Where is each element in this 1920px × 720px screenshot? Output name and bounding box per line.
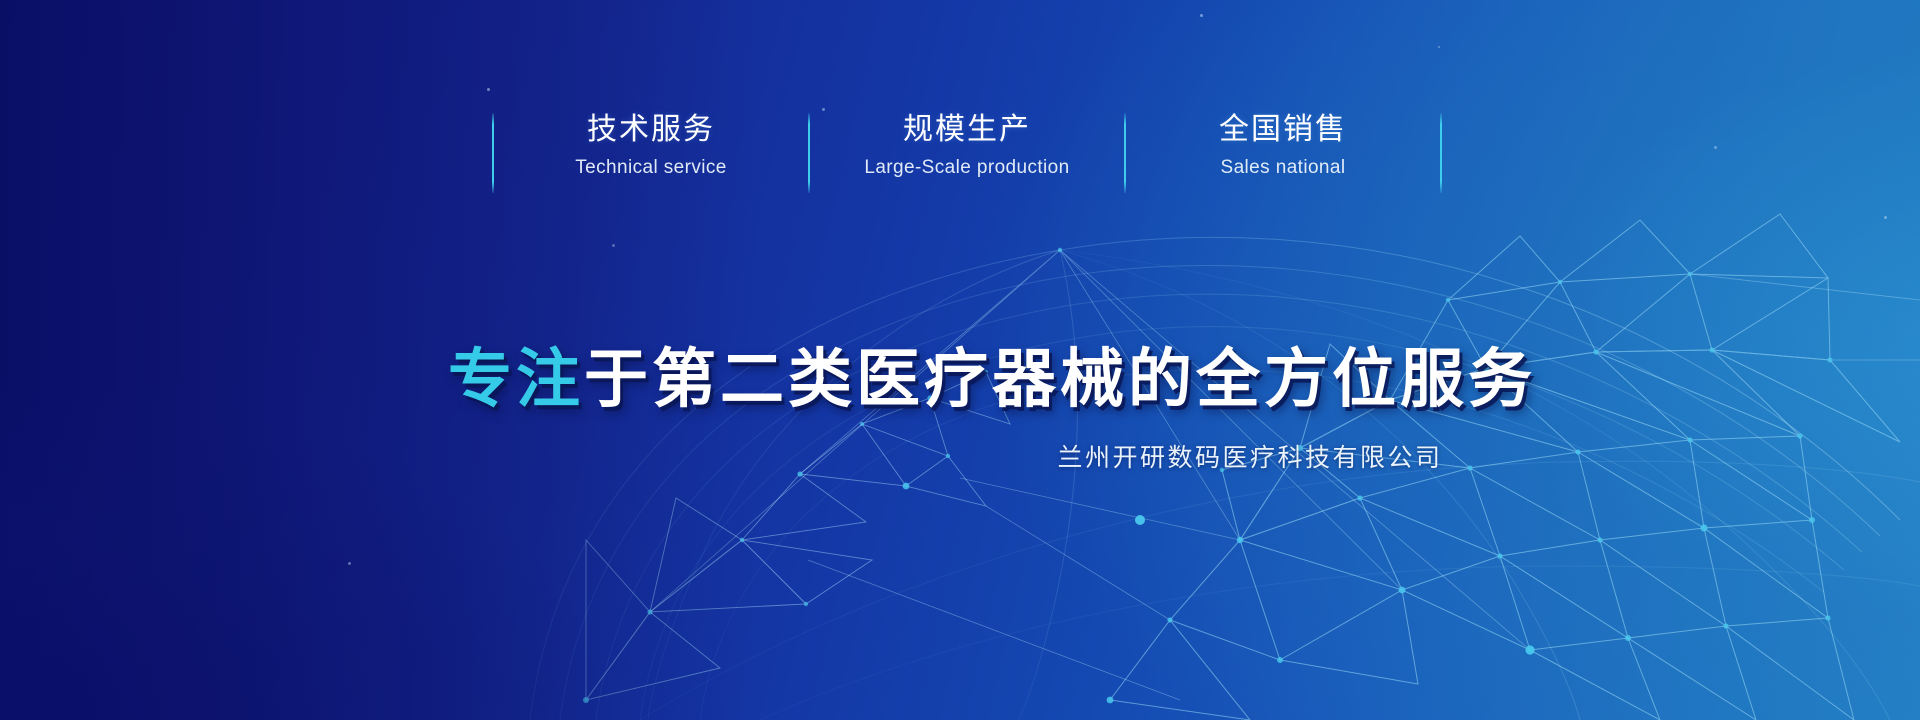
headline-text: 专注于第二类医疗器械的全方位服务 [448, 344, 1536, 416]
hero-banner: 技术服务 Technical service 规模生产 Large-Scale … [0, 0, 1920, 720]
headline-accent: 专注 [448, 343, 584, 417]
feature-strip: 技术服务 Technical service 规模生产 Large-Scale … [492, 113, 1442, 193]
feature-item-sales-national[interactable]: 全国销售 Sales national [1126, 113, 1440, 193]
sparkle-dot [612, 244, 615, 247]
company-line: 兰州开研数码医疗科技有限公司 [0, 443, 1920, 473]
company-name: 兰州开研数码医疗科技有限公司 [1057, 443, 1442, 473]
feature-title-cn: 全国销售 [1219, 113, 1347, 147]
sparkle-dot [1714, 146, 1717, 149]
feature-title-en: Large-Scale production [864, 157, 1069, 179]
sparkle-dot [1200, 14, 1203, 17]
sparkle-dot [348, 562, 351, 565]
sparkle-dot [1884, 216, 1887, 219]
headline: 专注于第二类医疗器械的全方位服务 [0, 344, 1920, 416]
feature-title-en: Technical service [575, 157, 726, 179]
bottom-left-shade [0, 390, 620, 720]
feature-item-technical-service[interactable]: 技术服务 Technical service [494, 113, 808, 193]
headline-rest: 于第二类医疗器械的全方位服务 [584, 343, 1536, 417]
feature-title-en: Sales national [1221, 157, 1346, 179]
feature-title-cn: 规模生产 [903, 113, 1031, 147]
sparkle-dot [1438, 46, 1440, 48]
feature-item-large-scale-production[interactable]: 规模生产 Large-Scale production [810, 113, 1124, 193]
feature-title-cn: 技术服务 [587, 113, 715, 147]
vertical-divider-icon [1440, 113, 1442, 193]
sparkle-dot [822, 108, 825, 111]
sparkle-dot [487, 88, 490, 91]
